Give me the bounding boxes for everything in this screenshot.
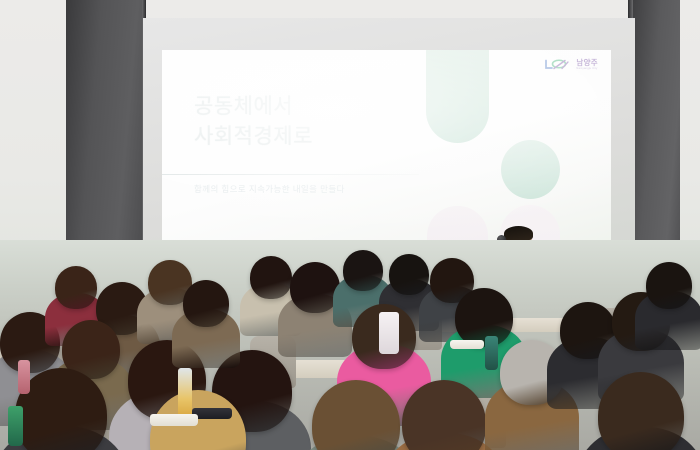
person-head bbox=[389, 254, 429, 295]
logo-english-text: Namyangju City bbox=[576, 68, 598, 71]
notepad bbox=[150, 414, 198, 426]
tablet-device bbox=[192, 408, 232, 419]
logo-wordmark: 남양주 Namyangju City bbox=[576, 59, 598, 70]
paper-sheet bbox=[450, 340, 484, 349]
presentation-slide: 남양주 Namyangju City 공동체에서 사회적경제로 함께의 힘으로 … bbox=[162, 50, 611, 256]
audience-area bbox=[0, 240, 700, 450]
person-head bbox=[646, 262, 692, 309]
logo-korean-text: 남양주 bbox=[576, 59, 598, 67]
person-head bbox=[455, 288, 513, 347]
slide-title-line-2: 사회적경제로 bbox=[194, 122, 454, 152]
green-tumbler bbox=[8, 406, 23, 446]
juice-bottle bbox=[18, 360, 30, 394]
white-tumbler bbox=[379, 312, 399, 354]
person-head bbox=[55, 266, 97, 309]
person-head bbox=[250, 256, 292, 299]
person-head bbox=[343, 250, 383, 291]
presentation-scene: 남양주 Namyangju City 공동체에서 사회적경제로 함께의 힘으로 … bbox=[0, 0, 700, 450]
person-head bbox=[598, 372, 684, 450]
person-head bbox=[183, 280, 229, 327]
slide-divider bbox=[162, 174, 419, 175]
namyangju-logo: 남양주 Namyangju City bbox=[544, 59, 598, 70]
clear-water-bottle bbox=[178, 368, 192, 418]
slide-title: 공동체에서 사회적경제로 bbox=[194, 92, 454, 153]
teal-tumbler bbox=[485, 336, 498, 370]
logo-mark-icon bbox=[544, 59, 573, 70]
slide-title-line-1: 공동체에서 bbox=[194, 92, 454, 122]
slide-subtitle: 함께의 힘으로 지속가능한 내일을 만들다 bbox=[194, 183, 494, 195]
decor-circle-shape bbox=[501, 140, 560, 199]
presenter-hair bbox=[504, 226, 533, 241]
